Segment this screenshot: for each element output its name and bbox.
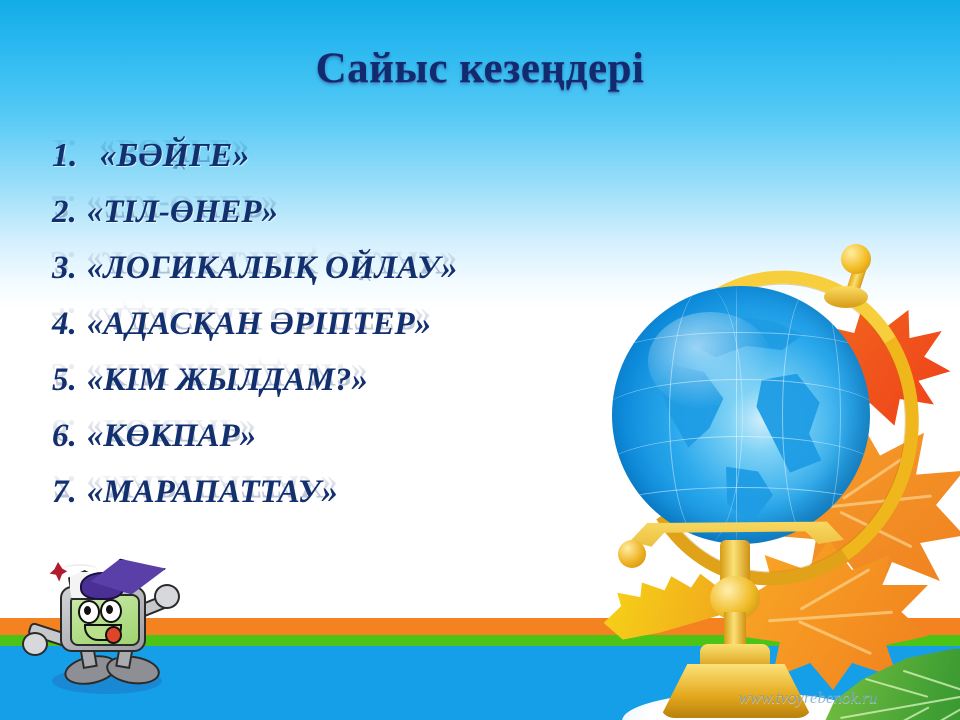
globe-sphere	[612, 286, 870, 544]
list-item-number: 7.	[52, 472, 77, 512]
mascot-pupil-right	[106, 605, 113, 614]
list-item-number: 4.	[52, 304, 77, 344]
globe-arm-knob	[618, 540, 646, 568]
globe-illustration: www.tvoyrebenok.ru	[588, 240, 960, 690]
cap-tassel-icon	[48, 562, 68, 582]
list-item-label: «КӨКПАР»	[87, 416, 256, 456]
globe-axis-ball	[841, 244, 871, 274]
list-item-label: «БӘЙГЕ»	[100, 136, 250, 176]
slide-title: Сайыс кезеңдері	[0, 44, 960, 93]
list-item-number: 5.	[52, 360, 77, 400]
globe-axis-collar	[824, 286, 868, 308]
mascot-pupil-left	[84, 606, 91, 615]
list-item-label: «МАРАПАТТАУ»	[87, 472, 338, 512]
list-item-number: 6.	[52, 416, 77, 456]
mascot-hand-left	[22, 632, 48, 656]
list-item: 1. «БӘЙГЕ» 1. «БӘЙГЕ»	[52, 136, 692, 192]
cap-tassel-string	[62, 564, 98, 576]
list-item-label: «КІМ ЖЫЛДАМ?»	[87, 360, 368, 400]
list-item-number: 3.	[52, 248, 77, 288]
mascot-hand-right	[154, 584, 180, 609]
list-item-number: 1.	[52, 136, 78, 176]
computer-mascot	[22, 556, 182, 706]
list-item-label: «ТІЛ-ӨНЕР»	[87, 192, 278, 232]
globe-highlight	[648, 312, 772, 410]
list-item-label: «ЛОГИКАЛЫҚ ОЙЛАУ»	[87, 248, 458, 288]
list-item-label: «АДАСҚАН ӘРІПТЕР»	[87, 304, 431, 344]
presentation-slide: Сайыс кезеңдері 1. «БӘЙГЕ» 1. «БӘЙГЕ» 2.…	[0, 0, 960, 720]
mascot-tongue	[105, 626, 122, 644]
list-item-number: 2.	[52, 192, 77, 232]
watermark-text: www.tvoyrebenok.ru	[668, 688, 948, 708]
